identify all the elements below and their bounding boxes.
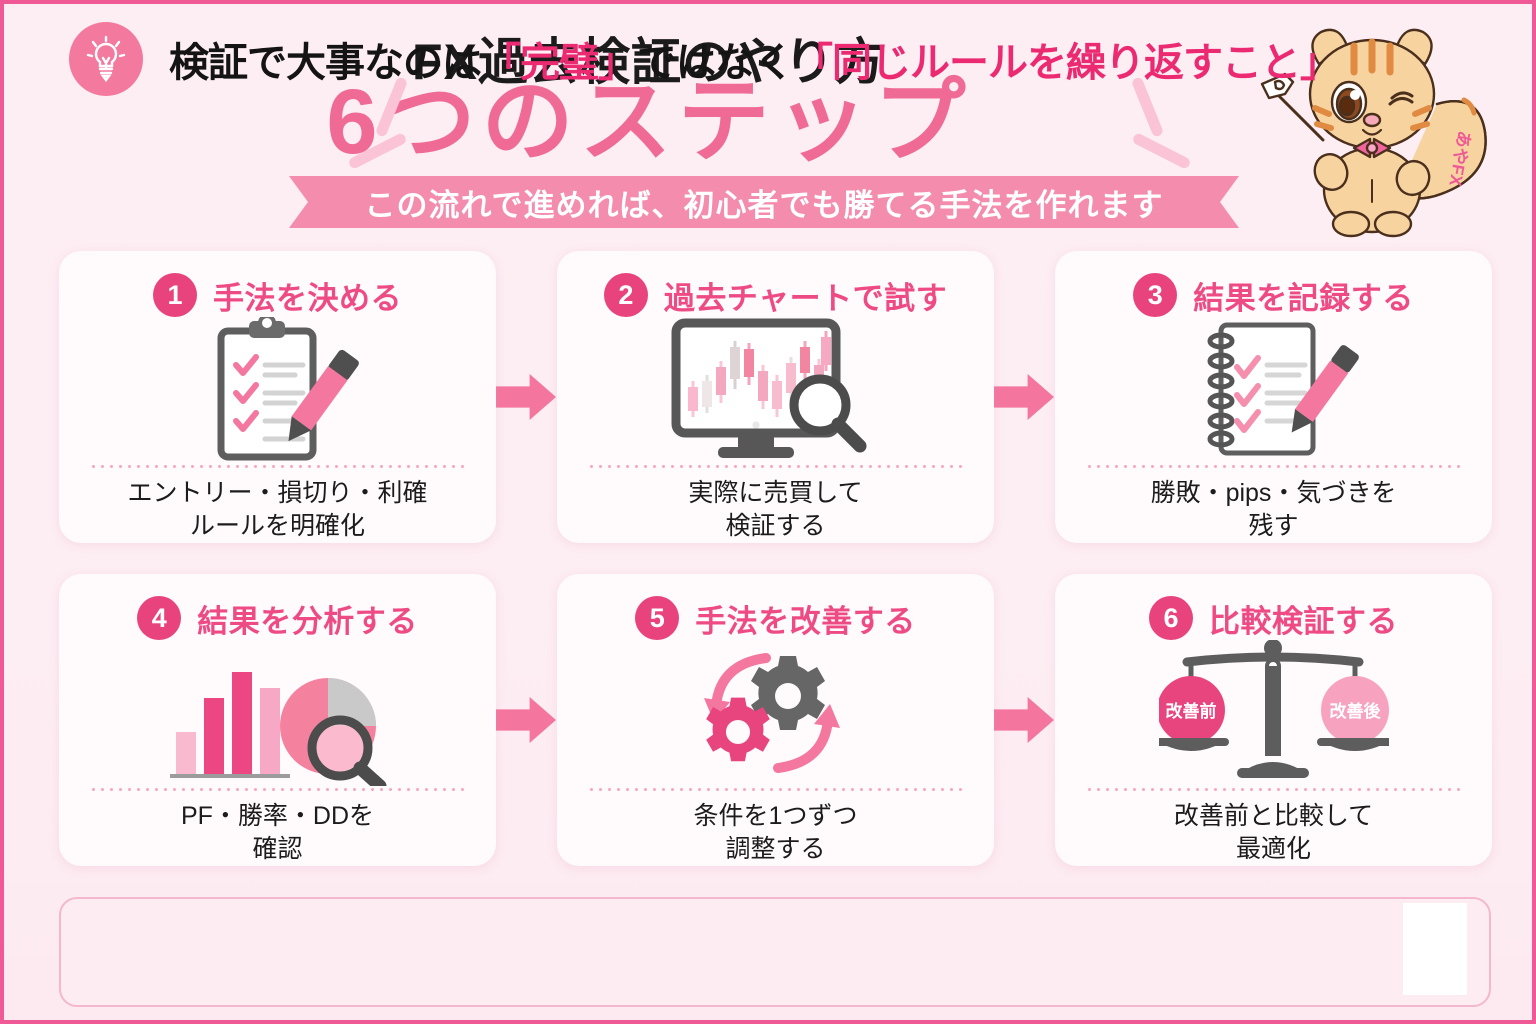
card-divider [587,465,964,468]
infographic-frame: FX過去検証のやり方 6つのステップ この流れで進めれば、初心者でも勝てる手法を… [0,0,1536,1024]
balance-scale-icon: 改善前 改善後 [1055,638,1492,788]
banner-highlight-2: 「同じルールを繰り返すこと」 [793,30,1339,88]
right-arrow-icon [994,374,1054,420]
banner-part1: 検証で大事なのは [169,30,481,88]
bottom-banner [59,897,1491,1007]
step-description: PF・勝率・DDを 確認 [69,800,486,866]
step-title: 手法を改善する [695,596,916,641]
step-description: 勝敗・pips・気づきを 残す [1065,477,1482,543]
step-description: エントリー・損切り・利確 ルールを明確化 [69,477,486,543]
step-desc-line2: 最適化 [1065,833,1482,866]
step-card-3[interactable]: 3 結果を記録する [1055,251,1492,543]
step-desc-line1: エントリー・損切り・利確 [69,477,486,510]
right-arrow-icon [994,697,1054,743]
step-card-header: 4 結果を分析する [59,592,496,644]
step-card-header: 6 比較検証する [1055,592,1492,644]
step-card-6[interactable]: 6 比較検証する [1055,574,1492,866]
step-title: 過去チャートで試す [664,273,947,318]
step-desc-line1: 実際に売買して [567,477,984,510]
monitor-candlestick-chart-magnifier-icon [557,315,994,465]
step-desc-line2: 残す [1065,510,1482,543]
right-arrow-icon [496,697,556,743]
step-title: 手法を決める [213,273,402,318]
step-desc-line1: 改善前と比較して [1065,800,1482,833]
step-card-header: 5 手法を改善する [557,592,994,644]
card-divider [89,788,466,791]
scale-left-label: 改善前 [1165,701,1216,721]
step-title: 結果を分析する [197,596,418,641]
step-number-badge: 2 [604,273,648,317]
step-number-badge: 3 [1133,273,1177,317]
step-title: 比較検証する [1209,596,1398,641]
step-desc-line2: 調整する [567,833,984,866]
step-card-5[interactable]: 5 手法を改善する [557,574,994,866]
card-divider [1085,465,1462,468]
step-desc-line2: 検証する [567,510,984,543]
banner-white-block [1403,903,1467,995]
step-number-badge: 6 [1149,596,1193,640]
spiral-notebook-checklist-pen-icon [1055,315,1492,465]
right-arrow-icon [496,374,556,420]
step-number-badge: 5 [635,596,679,640]
step-card-header: 3 結果を記録する [1055,269,1492,321]
step-desc-line2: ルールを明確化 [69,510,486,543]
clipboard-checklist-pen-icon [59,315,496,465]
card-divider [89,465,466,468]
banner-message: 検証で大事なのは「完璧」ではなく「同じルールを繰り返すこと」 [169,4,1419,114]
step-desc-line2: 確認 [69,833,486,866]
step-number-badge: 1 [153,273,197,317]
step-card-4[interactable]: 4 結果を分析する [59,574,496,866]
gears-cycle-arrows-icon [557,638,994,788]
step-title: 結果を記録する [1193,273,1414,318]
lightbulb-icon [69,22,143,96]
step-card-header: 2 過去チャートで試す [557,269,994,321]
card-divider [587,788,964,791]
step-number-badge: 4 [137,596,181,640]
bar-chart-pie-chart-magnifier-icon [59,638,496,788]
step-description: 改善前と比較して 最適化 [1065,800,1482,866]
scale-right-label: 改善後 [1329,701,1381,721]
step-card-2[interactable]: 2 過去チャートで試す [557,251,994,543]
step-description: 条件を1つずつ 調整する [567,800,984,866]
step-desc-line1: PF・勝率・DDを [69,800,486,833]
banner-highlight-1: 「完璧」 [481,30,637,88]
step-description: 実際に売買して 検証する [567,477,984,543]
steps-grid: 1 手法を決める [59,251,1491,876]
step-card-header: 1 手法を決める [59,269,496,321]
banner-part3: ではなく [637,30,793,88]
ribbon-banner-label: この流れで進めれば、初心者でも勝てる手法を作れます [289,176,1239,228]
step-desc-line1: 条件を1つずつ [567,800,984,833]
step-desc-line1: 勝敗・pips・気づきを [1065,477,1482,510]
step-card-1[interactable]: 1 手法を決める [59,251,496,543]
card-divider [1085,788,1462,791]
